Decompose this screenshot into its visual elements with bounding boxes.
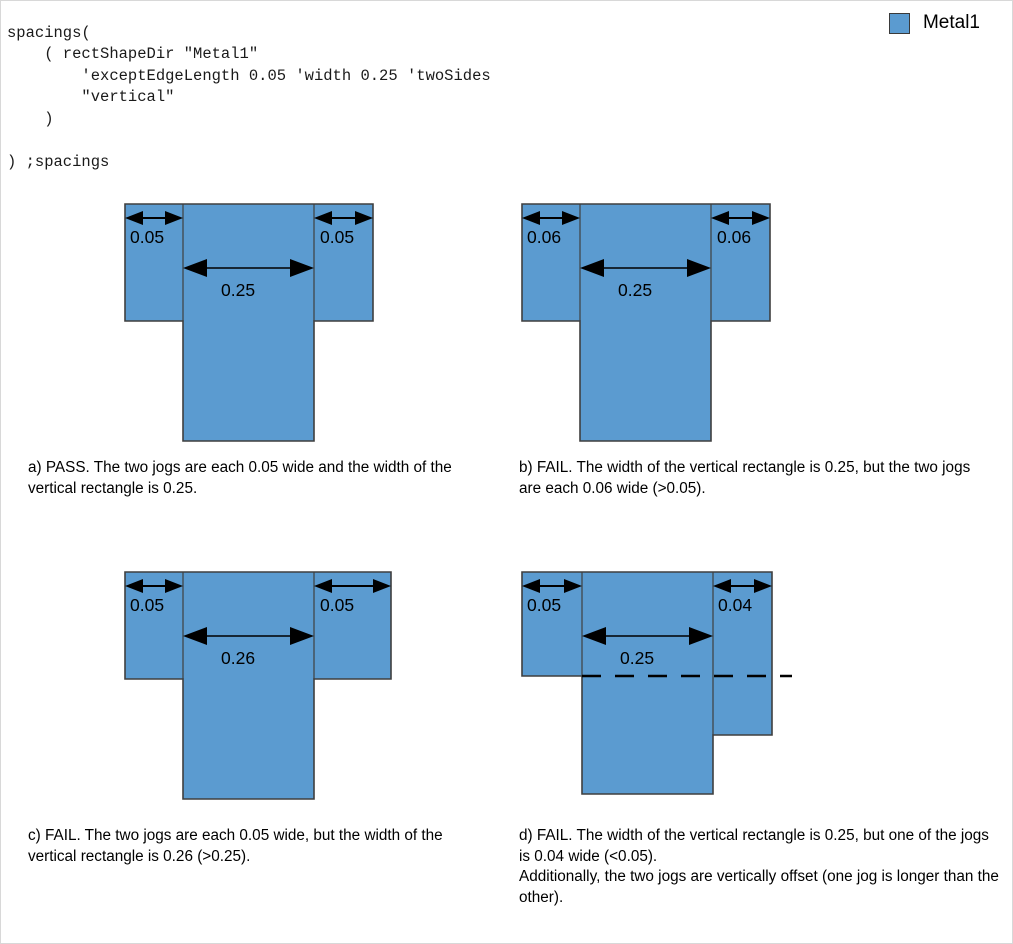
left-jog-label-a: 0.05 <box>130 227 164 247</box>
figure-c-svg: 0.05 0.05 0.26 <box>1 554 401 822</box>
figure-a: 0.05 0.05 0.25 a) PAS <box>1 186 507 454</box>
figure-c-caption: c) FAIL. The two jogs are each 0.05 wide… <box>28 826 502 867</box>
left-jog-label-b: 0.06 <box>527 227 561 247</box>
right-jog-label-c: 0.05 <box>320 595 354 615</box>
figure-d: 0.05 0.04 0.25 d) FAI <box>507 554 1013 822</box>
right-jog-label-b: 0.06 <box>717 227 751 247</box>
right-jog-label-d: 0.04 <box>718 595 752 615</box>
legend-label-metal1: Metal1 <box>923 12 980 34</box>
figure-c: 0.05 0.05 0.26 c) FAI <box>1 554 507 822</box>
spacings-code-block: spacings( ( rectShapeDir "Metal1" 'excep… <box>7 23 491 174</box>
stem-label-c: 0.26 <box>221 648 255 668</box>
metal1-color-swatch <box>889 13 910 34</box>
figure-a-drawing: 0.05 0.05 0.25 <box>1 186 507 454</box>
figure-a-svg: 0.05 0.05 0.25 <box>1 186 401 454</box>
stem-label-d: 0.25 <box>620 648 654 668</box>
figure-b-drawing: 0.06 0.06 0.25 <box>507 186 1013 454</box>
figure-b-caption: b) FAIL. The width of the vertical recta… <box>519 458 1003 499</box>
figure-b-svg: 0.06 0.06 0.25 <box>507 186 907 454</box>
figure-d-caption: d) FAIL. The width of the vertical recta… <box>519 826 1013 908</box>
figure-d-drawing: 0.05 0.04 0.25 <box>507 554 1013 822</box>
stem-label-b: 0.25 <box>618 280 652 300</box>
right-jog-label-a: 0.05 <box>320 227 354 247</box>
figure-c-drawing: 0.05 0.05 0.26 <box>1 554 507 822</box>
stem-label-a: 0.25 <box>221 280 255 300</box>
figure-b: 0.06 0.06 0.25 b) FAI <box>507 186 1013 454</box>
figure-a-caption: a) PASS. The two jogs are each 0.05 wide… <box>28 458 502 499</box>
left-jog-label-d: 0.05 <box>527 595 561 615</box>
figure-row-bottom: 0.05 0.05 0.26 c) FAI <box>1 554 1013 822</box>
figure-grid: 0.05 0.05 0.25 a) PAS <box>1 186 1013 822</box>
left-jog-label-c: 0.05 <box>130 595 164 615</box>
figure-d-svg: 0.05 0.04 0.25 <box>507 554 907 822</box>
legend: Metal1 <box>889 12 980 34</box>
figure-row-top: 0.05 0.05 0.25 a) PAS <box>1 186 1013 454</box>
